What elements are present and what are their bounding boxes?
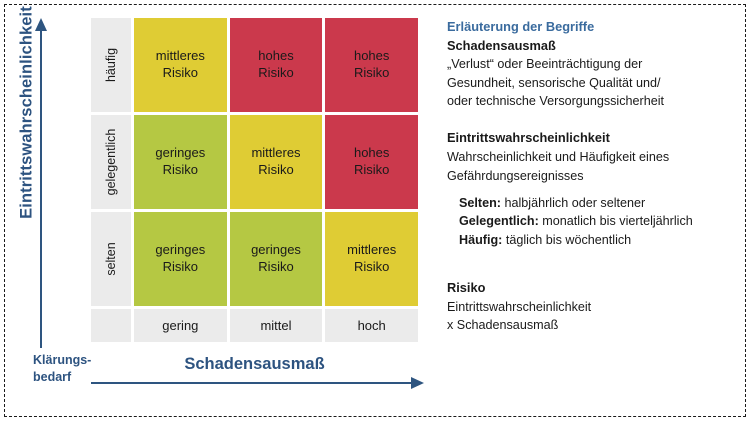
- cell-line-2: Risiko: [258, 259, 293, 276]
- frequency-item-gelegentlich: Gelegentlich: monatlich bis vierteljährl…: [459, 212, 737, 230]
- klaerungsbedarf-line-2: bedarf: [33, 369, 95, 386]
- column-header-mittel: mittel: [230, 309, 323, 342]
- cell-line-2: Risiko: [163, 259, 198, 276]
- x-axis: [91, 376, 425, 390]
- risk-matrix-figure: Eintrittswahrscheinlichkeit häufig mittl…: [0, 0, 750, 421]
- frequency-term: Häufig:: [459, 233, 502, 247]
- cell-line-2: Risiko: [163, 162, 198, 179]
- legend-section2-line-1: Wahrscheinlichkeit und Häufigkeit eines: [447, 148, 737, 166]
- y-axis-title: Eintrittswahrscheinlichkeit: [18, 0, 37, 243]
- legend-panel: Erläuterung der Begriffe Schadensausmaß …: [447, 18, 737, 334]
- matrix-cell-selten-mittel: geringes Risiko: [230, 212, 323, 306]
- cell-line-1: geringes: [155, 145, 205, 162]
- frequency-definition: halbjährlich oder seltener: [501, 196, 645, 210]
- cell-line-1: hohes: [258, 48, 293, 65]
- cell-line-2: Risiko: [354, 65, 389, 82]
- cell-line-2: Risiko: [354, 162, 389, 179]
- matrix-row-selten: selten geringes Risiko geringes Risiko m…: [91, 212, 418, 306]
- cell-line-1: geringes: [155, 242, 205, 259]
- row-header-label: häufig: [104, 48, 118, 82]
- klaerungsbedarf-label: Klärungs- bedarf: [33, 352, 95, 386]
- frequency-item-selten: Selten: halbjährlich oder seltener: [459, 194, 737, 212]
- matrix-column-header-row: gering mittel hoch: [91, 309, 418, 342]
- cell-line-2: Risiko: [258, 162, 293, 179]
- cell-line-2: Risiko: [354, 259, 389, 276]
- frequency-definition-list: Selten: halbjährlich oder seltener Geleg…: [459, 194, 737, 249]
- legend-spacer-1: [447, 110, 737, 129]
- matrix-cell-haeufig-mittel: hohes Risiko: [230, 18, 323, 112]
- frequency-term: Gelegentlich:: [459, 214, 539, 228]
- matrix-cell-selten-hoch: mittleres Risiko: [325, 212, 418, 306]
- row-header-label: selten: [104, 242, 118, 275]
- cell-line-1: hohes: [354, 145, 389, 162]
- cell-line-1: hohes: [354, 48, 389, 65]
- matrix-cell-haeufig-gering: mittleres Risiko: [134, 18, 227, 112]
- legend-heading: Erläuterung der Begriffe: [447, 18, 737, 37]
- cell-line-1: mittleres: [156, 48, 205, 65]
- legend-section1-title: Schadensausmaß: [447, 37, 737, 56]
- matrix-corner-spacer: [91, 309, 131, 342]
- legend-section1-line-3: oder technische Versorgungssicherheit: [447, 92, 737, 110]
- row-header-gelegentlich: gelegentlich: [91, 115, 131, 209]
- matrix-row-haeufig: häufig mittleres Risiko hohes Risiko hoh…: [91, 18, 418, 112]
- frequency-definition: monatlich bis vierteljährlich: [539, 214, 693, 228]
- matrix-cell-haeufig-hoch: hohes Risiko: [325, 18, 418, 112]
- matrix-cell-gelegentlich-hoch: hohes Risiko: [325, 115, 418, 209]
- matrix-cell-gelegentlich-mittel: mittleres Risiko: [230, 115, 323, 209]
- risk-matrix-grid: häufig mittleres Risiko hohes Risiko hoh…: [91, 18, 418, 340]
- x-axis-line: [91, 382, 413, 384]
- legend-section2-line-2: Gefährdungsereignisses: [447, 167, 737, 185]
- legend-section1-line-1: „Verlust“ oder Beeinträchtigung der: [447, 55, 737, 73]
- cell-line-1: mittleres: [251, 145, 300, 162]
- frequency-term: Selten:: [459, 196, 501, 210]
- cell-line-2: Risiko: [258, 65, 293, 82]
- cell-line-1: mittleres: [347, 242, 396, 259]
- legend-section1-line-2: Gesundheit, sensorische Qualität und/: [447, 74, 737, 92]
- row-header-selten: selten: [91, 212, 131, 306]
- matrix-cell-gelegentlich-gering: geringes Risiko: [134, 115, 227, 209]
- x-axis-arrow-icon: [411, 377, 424, 389]
- frequency-definition: täglich bis wöchentlich: [502, 233, 631, 247]
- matrix-cell-selten-gering: geringes Risiko: [134, 212, 227, 306]
- x-axis-title: Schadensausmaß: [91, 355, 418, 374]
- legend-spacer-2: [447, 249, 737, 279]
- legend-section3-line-2: x Schadensausmaß: [447, 316, 737, 334]
- column-header-gering: gering: [134, 309, 227, 342]
- row-header-label: gelegentlich: [104, 129, 118, 196]
- matrix-row-gelegentlich: gelegentlich geringes Risiko mittleres R…: [91, 115, 418, 209]
- frequency-item-haeufig: Häufig: täglich bis wöchentlich: [459, 231, 737, 249]
- column-header-hoch: hoch: [325, 309, 418, 342]
- row-header-haeufig: häufig: [91, 18, 131, 112]
- cell-line-1: geringes: [251, 242, 301, 259]
- cell-line-2: Risiko: [163, 65, 198, 82]
- legend-section3-line-1: Eintrittswahrscheinlichkeit: [447, 298, 737, 316]
- legend-section3-title: Risiko: [447, 279, 737, 298]
- y-axis-line: [40, 28, 42, 348]
- legend-section2-title: Eintrittswahrscheinlichkeit: [447, 129, 737, 148]
- klaerungsbedarf-line-1: Klärungs-: [33, 352, 95, 369]
